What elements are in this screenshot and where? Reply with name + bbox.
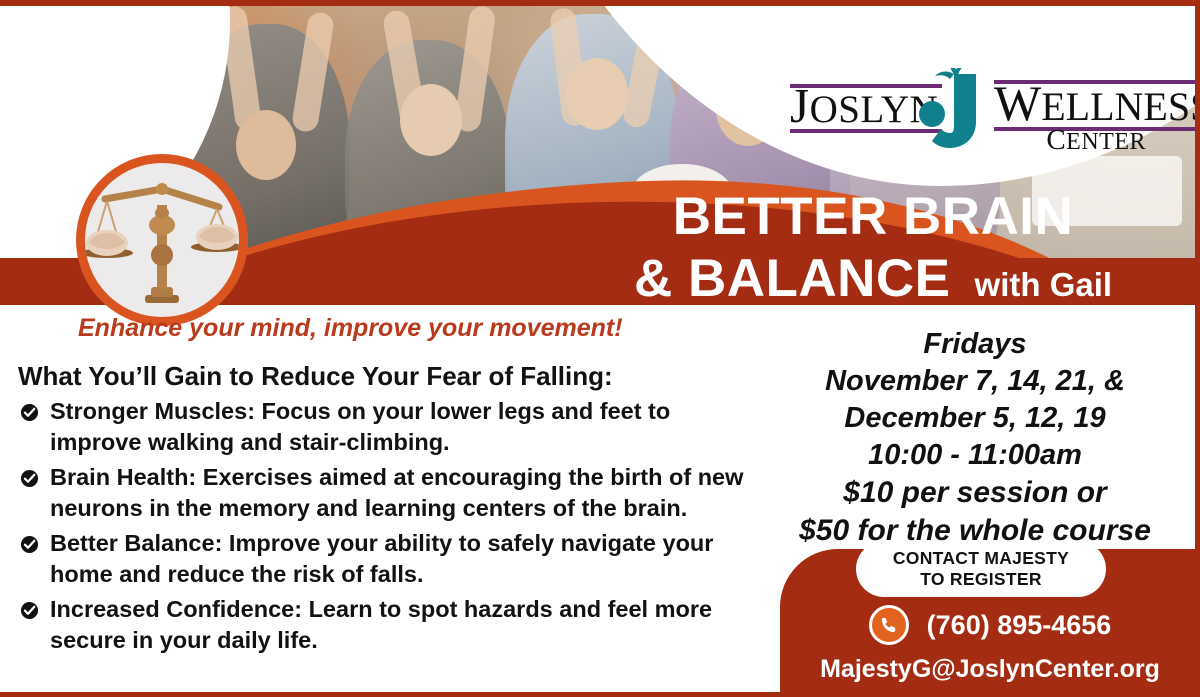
logo-joslyn-cap: J — [790, 78, 810, 133]
contact-pill-line-1: CONTACT MAJESTY — [893, 548, 1069, 569]
list-item-text: Increased Confidence: Learn to spot haza… — [50, 594, 760, 656]
headline-row-2: & BALANCE with Gail — [560, 248, 1186, 309]
phone-icon — [869, 605, 909, 645]
headline-line-2: & BALANCE — [634, 248, 951, 309]
joslyn-wellness-center-logo: JOSLYN WELLNESS CENTER — [790, 72, 1152, 150]
logo-center-cap: C — [1046, 124, 1066, 156]
flyer-root: JOSLYN WELLNESS CENTER — [0, 0, 1200, 697]
balance-scale-with-brains-icon — [85, 163, 239, 317]
contact-block: CONTACT MAJESTY TO REGISTER (760) 895-46… — [780, 549, 1200, 697]
check-circle-icon — [20, 403, 39, 422]
logo-wellness-rest: ELLNESS — [1041, 84, 1200, 129]
benefits-list: Stronger Muscles: Focus on your lower le… — [20, 396, 760, 660]
list-item: Increased Confidence: Learn to spot haza… — [20, 594, 760, 656]
schedule-dates-line-1: November 7, 14, 21, & — [765, 363, 1185, 400]
check-circle-icon — [20, 469, 39, 488]
palm-tree-j-icon — [918, 68, 986, 152]
photo-head — [566, 58, 628, 130]
photo-head — [236, 110, 296, 180]
list-item-text: Stronger Muscles: Focus on your lower le… — [50, 396, 760, 458]
schedule-day: Fridays — [765, 326, 1185, 363]
contact-pill-line-2: TO REGISTER — [920, 569, 1042, 590]
price-block: $10 per session or $50 for the whole cou… — [765, 474, 1185, 550]
logo-center-text: CENTER — [1046, 124, 1146, 157]
list-item-text: Brain Health: Exercises aimed at encoura… — [50, 462, 760, 524]
headline-instructor: with Gail — [975, 266, 1113, 304]
list-item: Stronger Muscles: Focus on your lower le… — [20, 396, 760, 458]
price-line-1: $10 per session or — [765, 474, 1185, 512]
photo-head — [400, 84, 462, 156]
contact-phone-number: (760) 895-4656 — [927, 610, 1112, 641]
list-item: Better Balance: Improve your ability to … — [20, 528, 760, 590]
contact-email[interactable]: MajestyG@JoslynCenter.org — [780, 655, 1200, 684]
headline-line-1: BETTER BRAIN — [560, 188, 1186, 246]
list-item-text: Better Balance: Improve your ability to … — [50, 528, 760, 590]
logo-wellness-cap: W — [994, 75, 1041, 131]
list-item: Brain Health: Exercises aimed at encoura… — [20, 462, 760, 524]
schedule-dates-line-2: December 5, 12, 19 — [765, 400, 1185, 437]
check-circle-icon — [20, 535, 39, 554]
schedule-time: 10:00 - 11:00am — [765, 437, 1185, 474]
check-circle-icon — [20, 601, 39, 620]
logo-center-rest: ENTER — [1066, 129, 1146, 155]
headline-block: BETTER BRAIN & BALANCE with Gail — [560, 188, 1186, 309]
contact-register-pill[interactable]: CONTACT MAJESTY TO REGISTER — [856, 541, 1106, 597]
tagline: Enhance your mind, improve your movement… — [78, 314, 718, 343]
balance-scale-badge — [76, 154, 248, 326]
phone-glyph-icon — [879, 615, 899, 635]
contact-phone-row[interactable]: (760) 895-4656 — [780, 605, 1200, 645]
schedule-block: Fridays November 7, 14, 21, & December 5… — [765, 326, 1185, 474]
benefits-heading: What You’ll Gain to Reduce Your Fear of … — [18, 361, 738, 392]
